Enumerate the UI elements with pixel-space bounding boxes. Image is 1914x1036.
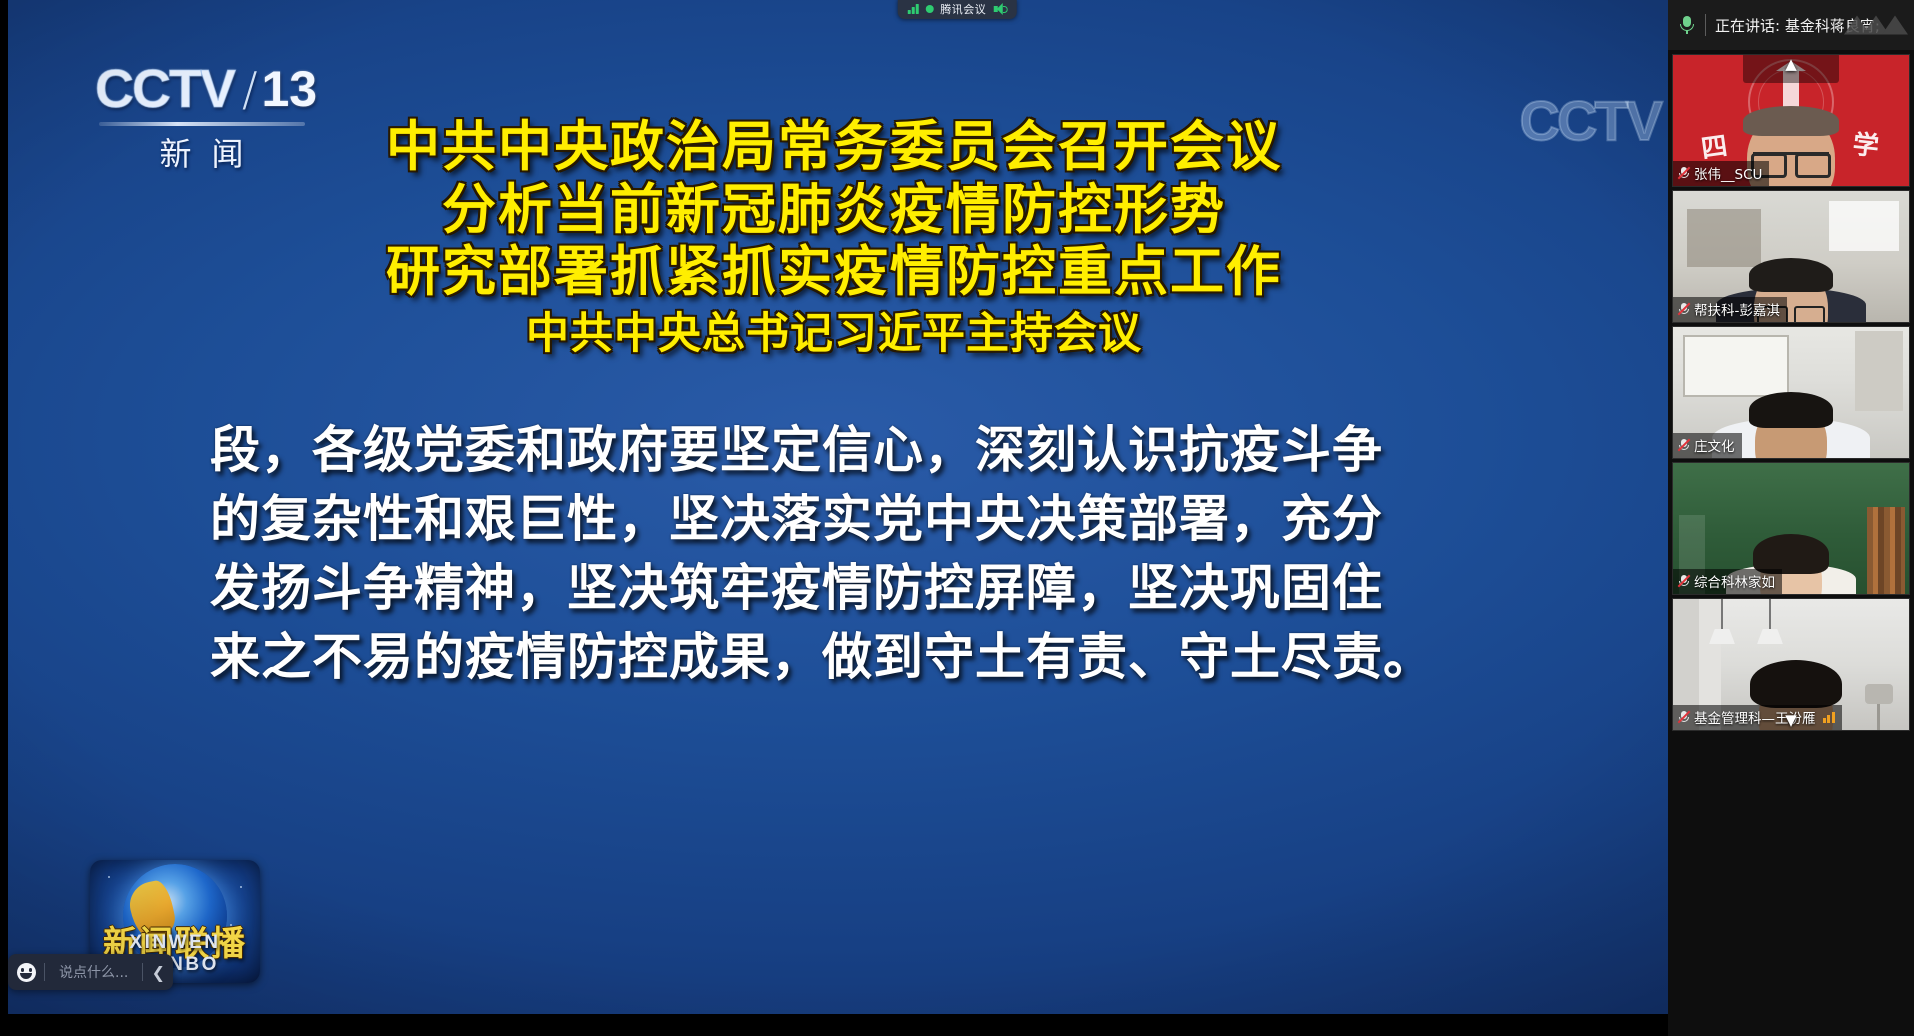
participant-name-chip: 庄文化 (1673, 433, 1742, 458)
mic-muted-icon (1677, 302, 1690, 317)
participant-tile[interactable]: 综合科林家如 (1672, 462, 1910, 595)
participant-tile[interactable]: 帮扶科-彭嘉淇 (1672, 190, 1910, 323)
shared-screen-stage[interactable]: CCTV / 13 新闻 CCTV 中共中央政治局常务委员会召开会议 分析当前新… (0, 0, 1668, 1036)
headline-line-1: 中共中央政治局常务委员会召开会议 (0, 116, 1668, 179)
cctv-letters: CCTV (95, 60, 234, 118)
meeting-app-name: 腾讯会议 (940, 1, 986, 17)
mic-muted-icon (1677, 574, 1690, 589)
participant-name: 综合科林家如 (1694, 571, 1775, 591)
speaker-on-icon[interactable] (993, 3, 1006, 16)
body-line-3: 发扬斗争精神，坚决筑牢疫情防控屏障，坚决巩固住 (210, 554, 1578, 623)
headline-line-3: 研究部署抓紧抓实疫情防控重点工作 (0, 241, 1668, 304)
participant-tile[interactable]: 庄文化 (1672, 326, 1910, 459)
microphone-icon (1678, 15, 1696, 35)
audio-level-icon (1823, 712, 1835, 723)
participant-name-chip: 基金管理科—王汾雁 (1673, 705, 1842, 730)
participant-name-chip: 帮扶科-彭嘉淇 (1673, 297, 1787, 322)
chat-input[interactable]: 说点什么... (45, 962, 142, 982)
chevron-down-icon[interactable]: ▼ (1778, 713, 1804, 727)
participant-tile[interactable]: ▼ 基金管理科—王汾雁 (1672, 598, 1910, 731)
body-line-1: 段，各级党委和政府要坚定信心，深刻认识抗疫斗争 (210, 416, 1578, 485)
left-letterbox (0, 0, 8, 1036)
broadcast-body-copy: 段，各级党委和政府要坚定信心，深刻认识抗疫斗争 的复杂性和艰巨性，坚决落实党中央… (210, 416, 1578, 692)
chat-input-bar[interactable]: 说点什么... ❮ (8, 954, 173, 990)
chevron-up-icon[interactable]: ▲ (1778, 57, 1804, 71)
signal-bars-icon (908, 4, 919, 14)
participant-name-chip: 综合科林家如 (1673, 569, 1782, 594)
participant-tiles: 四 学 ▲ 张伟__SCU (1668, 50, 1914, 1036)
participant-name: 张伟__SCU (1694, 163, 1762, 183)
mic-muted-icon (1677, 166, 1690, 181)
green-dot-icon (925, 5, 933, 13)
meeting-window: CCTV / 13 新闻 CCTV 中共中央政治局常务委员会召开会议 分析当前新… (0, 0, 1914, 1036)
broadcast-headline-block: 中共中央政治局常务委员会召开会议 分析当前新冠肺炎疫情防控形势 研究部署抓紧抓实… (0, 116, 1668, 360)
participant-rail: 正在讲话: 基金科蒋良宵; 四 学 ▲ 张伟_ (1668, 0, 1914, 1036)
participant-tile[interactable]: 四 学 ▲ 张伟__SCU (1672, 54, 1910, 187)
body-line-2: 的复杂性和艰巨性，坚决落实党中央决策部署，充分 (210, 485, 1578, 554)
mic-muted-icon (1677, 710, 1690, 725)
cctv-channel-number: 13 (262, 61, 318, 117)
headline-line-4: 中共中央总书记习近平主持会议 (0, 310, 1668, 360)
emoji-smiley-icon[interactable] (8, 954, 44, 990)
participant-name: 帮扶科-彭嘉淇 (1694, 299, 1780, 319)
headline-line-2: 分析当前新冠肺炎疫情防控形势 (0, 179, 1668, 242)
mic-muted-icon (1677, 438, 1690, 453)
bottom-letterbox (0, 1014, 1914, 1036)
participant-name: 庄文化 (1694, 435, 1735, 455)
meeting-status-pill[interactable]: 腾讯会议 (898, 0, 1017, 19)
body-line-4: 来之不易的疫情防控成果，做到守土有责、守土尽责。 (210, 623, 1578, 692)
participant-name-chip: 张伟__SCU (1673, 161, 1769, 186)
cctv-slash: / (242, 63, 258, 115)
active-speaker-bar: 正在讲话: 基金科蒋良宵; (1668, 0, 1914, 50)
chevron-left-icon[interactable]: ❮ (143, 954, 173, 990)
divider (1705, 14, 1706, 36)
tencent-meeting-logo-icon (1851, 16, 1908, 35)
